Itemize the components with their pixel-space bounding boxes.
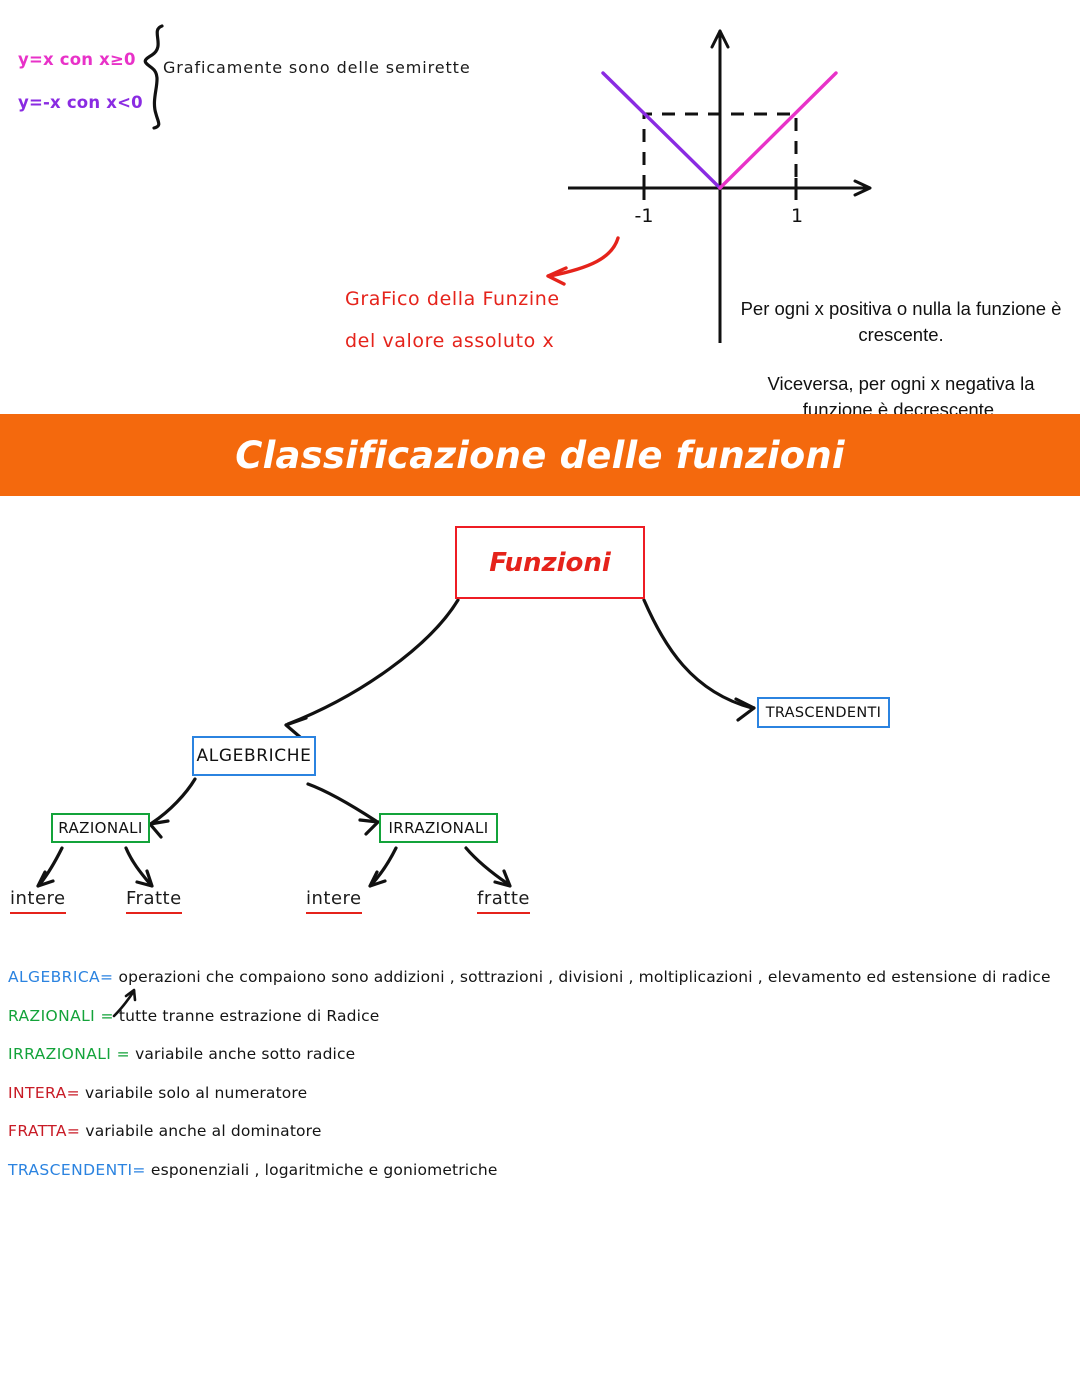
legend-list: ALGEBRICA= operazioni che compaiono sono…: [8, 958, 1078, 1189]
node-algebriche[interactable]: ALGEBRICHE: [192, 736, 316, 776]
equation-negative-branch: y=-x con x<0: [18, 95, 158, 112]
red-caption: GraFico della Funzine del valore assolut…: [345, 278, 560, 362]
monotonicity-note: Per ogni x positiva o nulla la funzione …: [736, 296, 1066, 423]
section-banner: Classificazione delle funzioni: [0, 414, 1080, 496]
leaf-razionali-fratte[interactable]: Fratte: [126, 888, 182, 914]
leaf-razionali-intere[interactable]: intere: [10, 888, 66, 914]
red-caption-line-2: del valore assoluto x: [345, 320, 560, 362]
legend-term-fratta: FRATTA=: [8, 1122, 80, 1140]
node-trascendenti[interactable]: TRASCENDENTI: [757, 697, 890, 728]
legend-row-razionali: RAZIONALI = tutte tranne estrazione di R…: [8, 997, 1078, 1036]
legend-term-razionali: RAZIONALI =: [8, 1007, 114, 1025]
legend-definition-intera: variabile solo al numeratore: [80, 1084, 307, 1102]
legend-definition-fratta: variabile anche al dominatore: [80, 1122, 321, 1140]
legend-term-intera: INTERA=: [8, 1084, 80, 1102]
legend-upward-arrow-icon: [108, 988, 142, 1018]
legend-row-fratta: FRATTA= variabile anche al dominatore: [8, 1112, 1078, 1151]
legend-row-irrazionali: IRRAZIONALI = variabile anche sotto radi…: [8, 1035, 1078, 1074]
node-funzioni[interactable]: Funzioni: [455, 526, 645, 599]
classification-diagram: Funzioni ALGEBRICHE TRASCENDENTI RAZIONA…: [0, 496, 1080, 946]
brace-note-text: Graficamente sono delle semirette: [163, 58, 471, 77]
legend-definition-irrazionali: variabile anche sotto radice: [130, 1045, 355, 1063]
legend-definition-algebrica: operazioni che compaiono sono addizioni …: [113, 968, 1050, 986]
banner-title: Classificazione delle funzioni: [235, 434, 845, 477]
notes-page: y=x con x≥0 y=-x con x<0 Graficamente so…: [0, 0, 1080, 1395]
red-caption-line-1: GraFico della Funzine: [345, 278, 560, 320]
legend-definition-trascendenti: esponenziali , logaritmiche e goniometri…: [146, 1161, 498, 1179]
curly-brace-icon: [140, 22, 180, 132]
node-razionali[interactable]: RAZIONALI: [51, 813, 150, 843]
legend-term-irrazionali: IRRAZIONALI =: [8, 1045, 130, 1063]
legend-row-trascendenti: TRASCENDENTI= esponenziali , logaritmich…: [8, 1151, 1078, 1190]
leaf-irrazionali-fratte[interactable]: fratte: [477, 888, 530, 914]
equation-positive-branch: y=x con x≥0: [18, 52, 158, 69]
svg-text:-1: -1: [635, 205, 654, 227]
node-irrazionali[interactable]: IRRAZIONALI: [379, 813, 498, 843]
legend-definition-razionali: tutte tranne estrazione di Radice: [114, 1007, 380, 1025]
legend-row-algebrica: ALGEBRICA= operazioni che compaiono sono…: [8, 958, 1078, 997]
equation-block: y=x con x≥0 y=-x con x<0: [18, 52, 158, 111]
note-increasing: Per ogni x positiva o nulla la funzione …: [736, 296, 1066, 348]
legend-term-algebrica: ALGEBRICA=: [8, 968, 113, 986]
svg-text:1: 1: [791, 205, 803, 227]
leaf-irrazionali-intere[interactable]: intere: [306, 888, 362, 914]
legend-term-trascendenti: TRASCENDENTI=: [8, 1161, 146, 1179]
legend-row-intera: INTERA= variabile solo al numeratore: [8, 1074, 1078, 1113]
